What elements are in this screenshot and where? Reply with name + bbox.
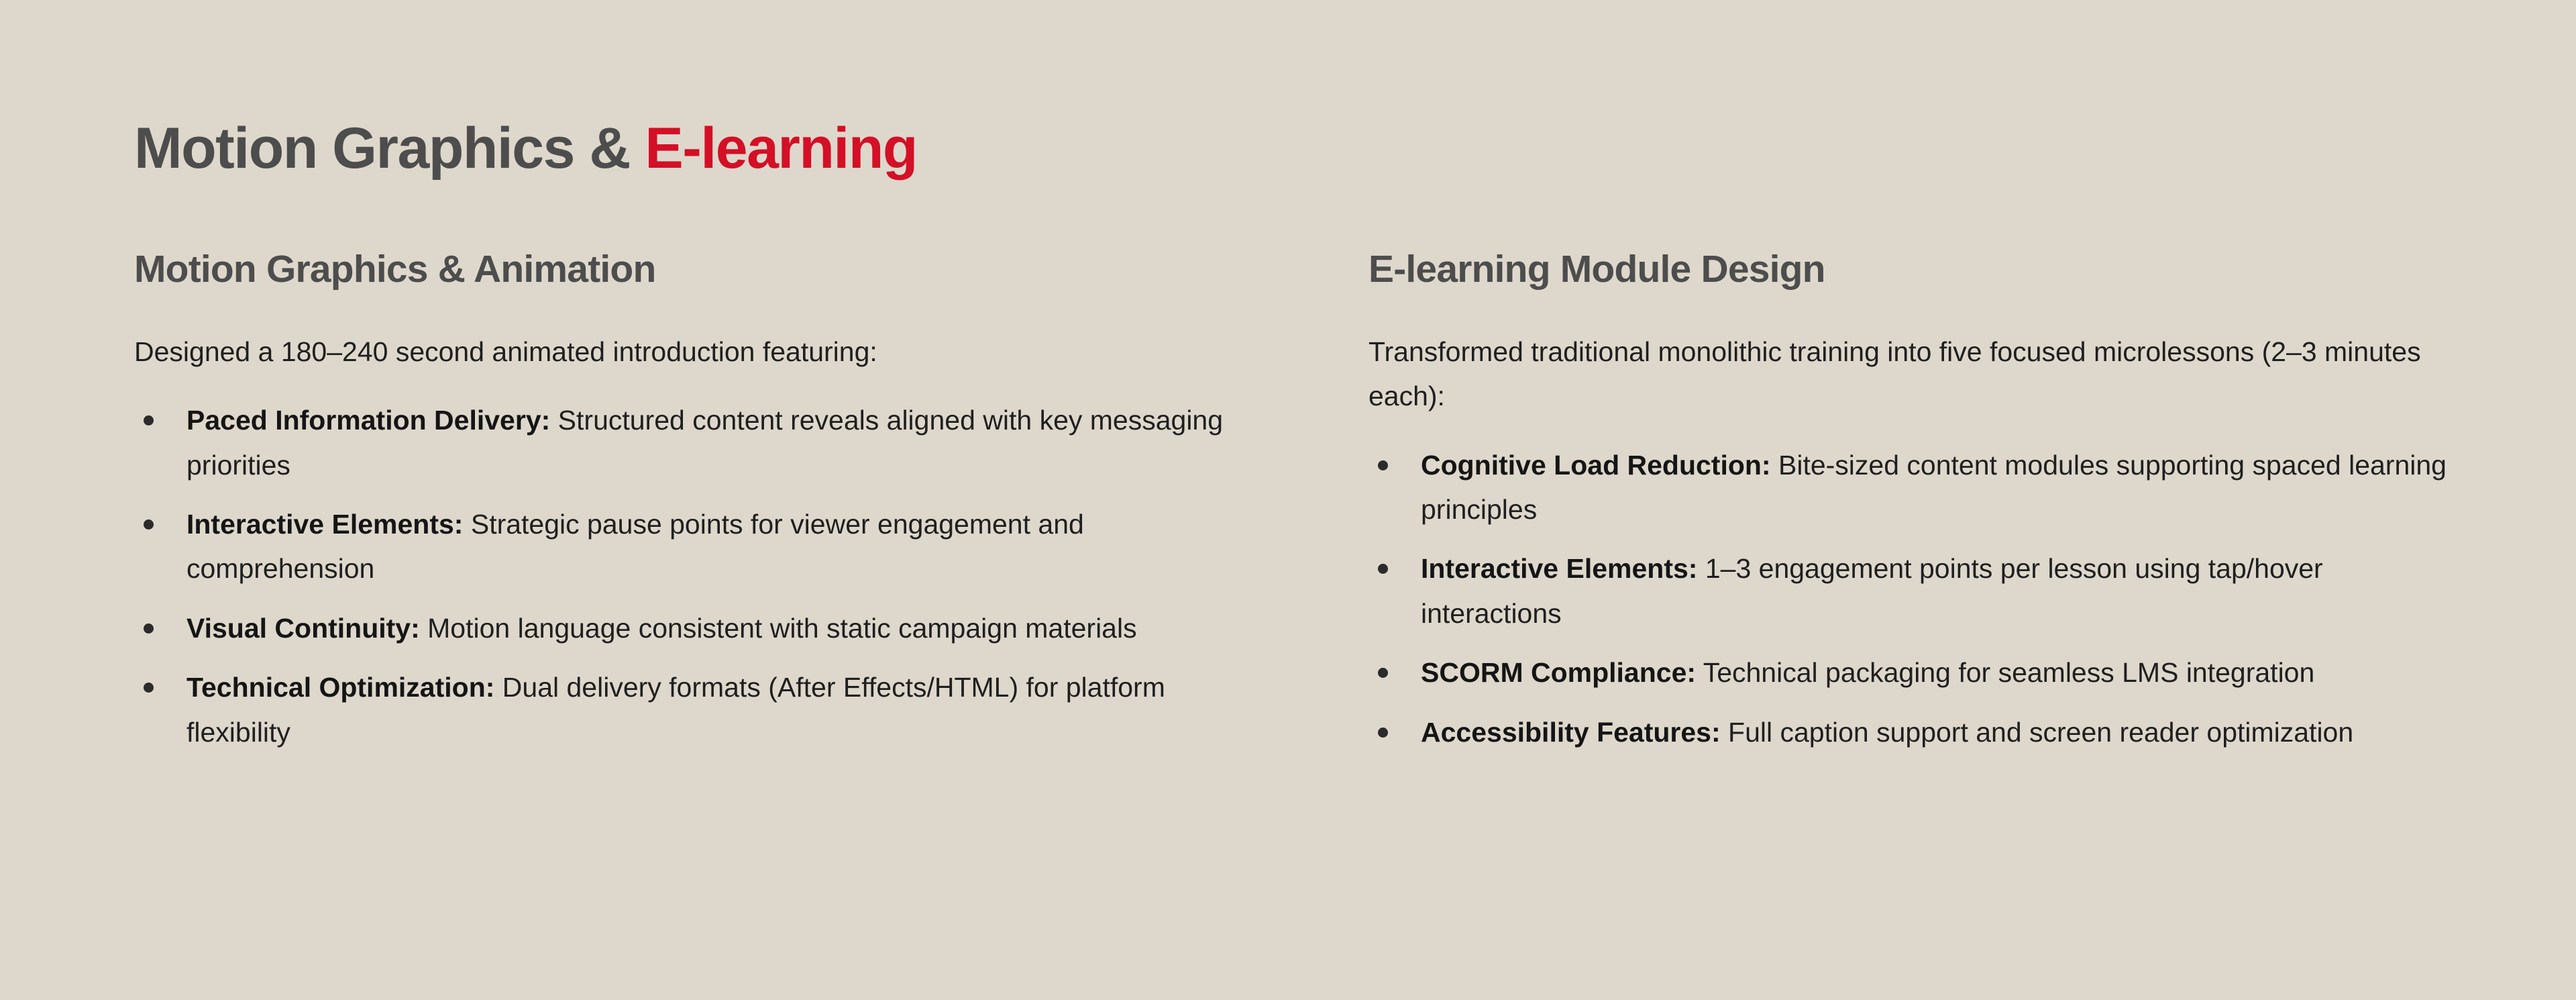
list-item: Interactive Elements: 1–3 engagement poi… bbox=[1368, 546, 2469, 636]
bullet-icon bbox=[1378, 460, 1388, 470]
list-item: Paced Information Delivery: Structured c… bbox=[134, 398, 1234, 487]
list-item-lead: Interactive Elements: bbox=[1421, 553, 1697, 584]
list-item-lead: Cognitive Load Reduction: bbox=[1421, 450, 1771, 481]
slide-root: Motion Graphics & E-learning Motion Grap… bbox=[0, 0, 2576, 1000]
page-title-prefix: Motion Graphics & bbox=[134, 116, 645, 181]
list-item-lead: Interactive Elements: bbox=[186, 509, 463, 540]
page-title-accent: E-learning bbox=[645, 116, 917, 181]
bullet-icon bbox=[144, 683, 154, 693]
bullet-icon bbox=[144, 519, 154, 530]
bullet-icon bbox=[144, 415, 154, 426]
list-item-lead: Technical Optimization: bbox=[186, 672, 494, 703]
column-elearning: E-learning Module Design Transformed tra… bbox=[1368, 248, 2469, 769]
bullet-icon bbox=[1378, 564, 1388, 574]
list-item-text: Technical packaging for seamless LMS int… bbox=[1696, 657, 2314, 688]
list-item-text: Motion language consistent with static c… bbox=[420, 613, 1137, 644]
column-bullet-list: Paced Information Delivery: Structured c… bbox=[134, 398, 1234, 754]
list-item-lead: Accessibility Features: bbox=[1421, 717, 1721, 748]
column-heading: E-learning Module Design bbox=[1368, 248, 2469, 291]
list-item: Visual Continuity: Motion language consi… bbox=[134, 606, 1234, 650]
bullet-icon bbox=[1378, 668, 1388, 678]
list-item: Accessibility Features: Full caption sup… bbox=[1368, 710, 2469, 754]
column-intro: Designed a 180–240 second animated intro… bbox=[134, 330, 1207, 374]
list-item-lead: SCORM Compliance: bbox=[1421, 657, 1696, 688]
list-item: Cognitive Load Reduction: Bite-sized con… bbox=[1368, 443, 2469, 532]
list-item-lead: Paced Information Delivery: bbox=[186, 405, 550, 436]
content-columns: Motion Graphics & Animation Designed a 1… bbox=[134, 248, 2469, 769]
list-item-lead: Visual Continuity: bbox=[186, 613, 420, 644]
bullet-icon bbox=[144, 623, 154, 634]
list-item: Interactive Elements: Strategic pause po… bbox=[134, 502, 1234, 591]
list-item: Technical Optimization: Dual delivery fo… bbox=[134, 665, 1234, 754]
column-intro: Transformed traditional monolithic train… bbox=[1368, 330, 2442, 419]
bullet-icon bbox=[1378, 728, 1388, 738]
list-item-text: Full caption support and screen reader o… bbox=[1721, 717, 2354, 748]
column-heading: Motion Graphics & Animation bbox=[134, 248, 1234, 291]
column-motion-graphics: Motion Graphics & Animation Designed a 1… bbox=[134, 248, 1234, 769]
list-item: SCORM Compliance: Technical packaging fo… bbox=[1368, 650, 2469, 695]
column-bullet-list: Cognitive Load Reduction: Bite-sized con… bbox=[1368, 443, 2469, 754]
page-title: Motion Graphics & E-learning bbox=[134, 118, 917, 179]
